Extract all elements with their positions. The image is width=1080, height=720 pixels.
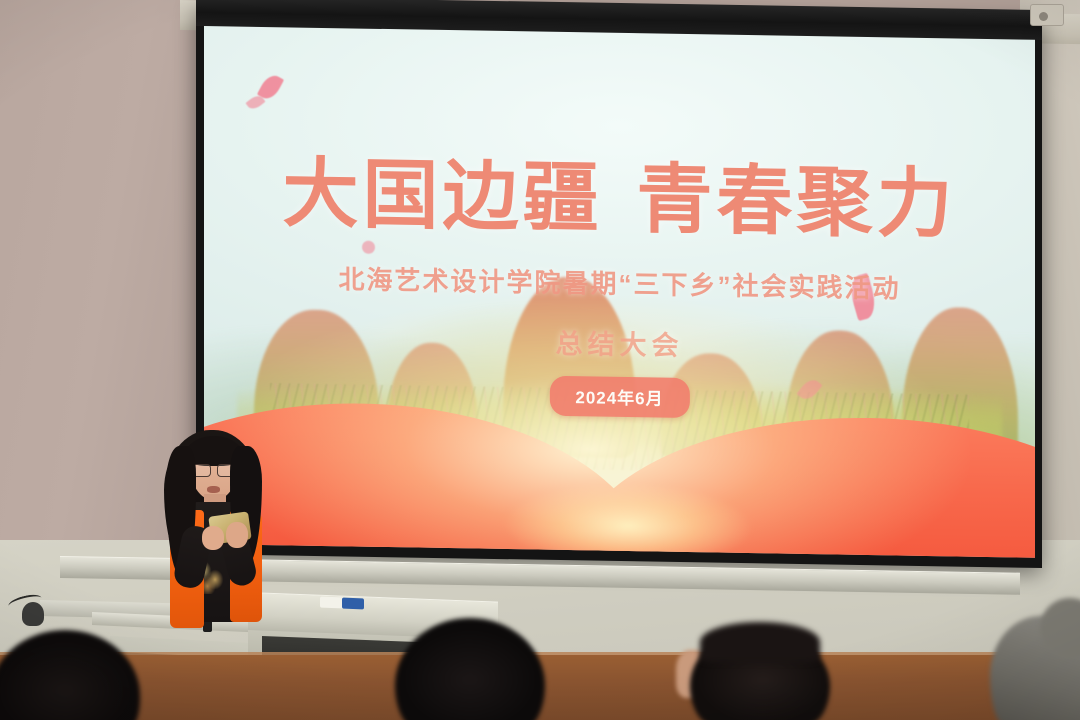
slide-title: 大国边疆青春聚力 (204, 130, 1035, 254)
screen-mount-bracket (1030, 4, 1064, 26)
microphone-icon-left (22, 602, 44, 626)
slide-title-part1: 大国边疆 (283, 152, 603, 241)
marker-item (342, 598, 364, 610)
eraser-item (320, 597, 344, 609)
presenter-hand-left (202, 526, 224, 550)
title-gap (603, 224, 637, 225)
presenter (150, 430, 280, 640)
slide-subtitle-secondary: 总结大会 (204, 316, 1035, 369)
presenter-hand-right (226, 522, 248, 548)
presenter-mouth (207, 486, 220, 493)
slide-title-part2: 青春聚力 (637, 158, 957, 247)
slide-text-block: 大国边疆青春聚力 北海艺术设计学院暑期“三下乡”社会实践活动 总结大会 2024… (204, 26, 1035, 558)
photo-scene: 大国边疆青春聚力 北海艺术设计学院暑期“三下乡”社会实践活动 总结大会 2024… (0, 0, 1080, 720)
slide-subtitle: 北海艺术设计学院暑期“三下乡”社会实践活动 (204, 257, 1035, 308)
projection-screen: 大国边疆青春聚力 北海艺术设计学院暑期“三下乡”社会实践活动 总结大会 2024… (204, 26, 1035, 558)
slide-date-badge: 2024年6月 (549, 376, 689, 418)
audience-hair-tuft (700, 622, 820, 662)
